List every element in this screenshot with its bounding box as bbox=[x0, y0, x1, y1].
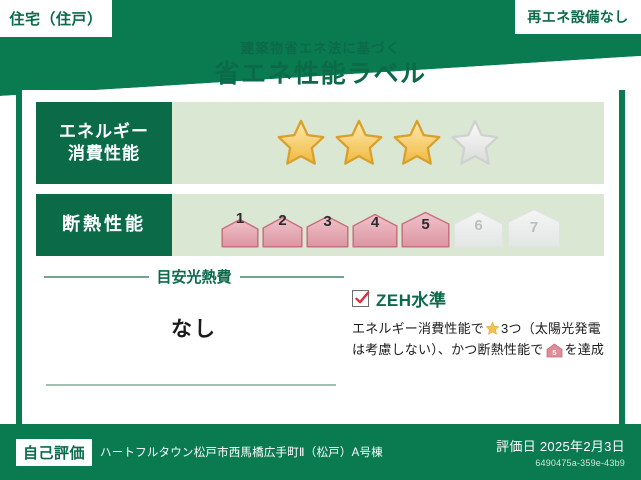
energy-label-line1: エネルギー bbox=[59, 121, 149, 143]
renewable-equipment-text: 再エネ設備なし bbox=[527, 7, 629, 27]
utility-cost-heading: 目安光熱費 bbox=[44, 266, 344, 287]
check-icon bbox=[352, 288, 372, 308]
star-empty-icon bbox=[449, 118, 501, 168]
zeh-standard-block: ZEH水準 エネルギー消費性能で3つ（太陽光発電 は考慮しない）、かつ断熱性能で… bbox=[352, 286, 620, 364]
insulation-grade-2: 2 bbox=[262, 202, 303, 248]
insulation-grade-number: 4 bbox=[352, 214, 398, 231]
evaluation-id: 6490475a-359e-43b9 bbox=[496, 458, 625, 468]
label-title: 省エネ性能ラベル bbox=[0, 59, 641, 90]
energy-performance-row: エネルギー 消費性能 bbox=[36, 102, 604, 184]
insulation-grade-5: 5 bbox=[401, 202, 450, 248]
utility-cost-block: 目安光熱費 なし bbox=[44, 266, 344, 343]
insulation-grade-number: 3 bbox=[306, 213, 349, 230]
section-vertical-separator bbox=[344, 266, 346, 394]
utility-cost-heading-text: 目安光熱費 bbox=[157, 266, 232, 287]
self-evaluation-badge: 自己評価 bbox=[16, 439, 92, 466]
insulation-grade-number: 2 bbox=[262, 212, 303, 229]
label-main-card: エネルギー 消費性能 断熱性能 1234567 目安光熱費 なし bbox=[16, 90, 625, 424]
zeh-desc-part3: は考慮しない）、かつ断熱性能で bbox=[352, 342, 544, 357]
insulation-grade-1: 1 bbox=[221, 202, 259, 248]
evaluation-meta: 評価日 2025年2月3日 6490475a-359e-43b9 bbox=[496, 436, 625, 468]
building-type-text: 住宅（住戸） bbox=[9, 8, 102, 29]
insulation-label-text: 断熱性能 bbox=[62, 213, 146, 236]
utility-cost-value: なし bbox=[44, 313, 344, 343]
insulation-grade-number: 6 bbox=[453, 217, 504, 234]
star-filled-icon bbox=[333, 118, 385, 168]
energy-label-line2: 消費性能 bbox=[68, 143, 140, 165]
insulation-grade-7: 7 bbox=[507, 202, 561, 248]
zeh-inline-grade-number: 5 bbox=[552, 348, 556, 357]
zeh-desc-part4: を達成 bbox=[565, 342, 605, 357]
zeh-heading: ZEH水準 bbox=[352, 286, 620, 311]
insulation-grade-number: 1 bbox=[221, 210, 259, 227]
energy-performance-label: 住宅（住戸） 再エネ設備なし 建築物省エネ法に基づく 省エネ性能ラベル エネルギ… bbox=[0, 0, 641, 480]
evaluation-date: 評価日 2025年2月3日 bbox=[496, 439, 625, 454]
zeh-checkbox[interactable] bbox=[352, 290, 369, 307]
insulation-performance-label-box: 断熱性能 bbox=[36, 194, 172, 256]
zeh-description: エネルギー消費性能で3つ（太陽光発電 は考慮しない）、かつ断熱性能で5を達成 bbox=[352, 318, 620, 364]
insulation-performance-row: 断熱性能 1234567 bbox=[36, 194, 604, 256]
insulation-grade-number: 5 bbox=[401, 216, 450, 233]
star-filled-icon bbox=[275, 118, 327, 168]
label-title-group: 建築物省エネ法に基づく 省エネ性能ラベル bbox=[0, 42, 641, 90]
zeh-title: ZEH水準 bbox=[376, 286, 447, 311]
heading-rule-right bbox=[240, 276, 345, 278]
label-footer: 自己評価 ハートフルタウン松戸市西馬橋広手町Ⅱ（松戸）A号棟 評価日 2025年… bbox=[0, 424, 641, 480]
insulation-grade-3: 3 bbox=[306, 202, 349, 248]
insulation-grade-scale: 1234567 bbox=[172, 194, 604, 256]
label-subtitle: 建築物省エネ法に基づく bbox=[0, 42, 641, 57]
star-filled-icon bbox=[391, 118, 443, 168]
zeh-desc-part1: エネルギー消費性能で bbox=[352, 321, 484, 336]
insulation-grade-number: 7 bbox=[507, 219, 561, 236]
renewable-equipment-tag: 再エネ設備なし bbox=[515, 0, 641, 34]
heading-rule-left bbox=[44, 276, 149, 278]
building-type-tag: 住宅（住戸） bbox=[0, 0, 112, 37]
utility-cost-bottom-rule bbox=[46, 384, 336, 386]
zeh-inline-grade-badge: 5 bbox=[546, 346, 563, 361]
insulation-grade-4: 4 bbox=[352, 202, 398, 248]
property-name: ハートフルタウン松戸市西馬橋広手町Ⅱ（松戸）A号棟 bbox=[100, 444, 383, 460]
zeh-desc-part2: 3つ（太陽光発電 bbox=[501, 321, 601, 336]
energy-performance-label-box: エネルギー 消費性能 bbox=[36, 102, 172, 184]
star-icon bbox=[485, 321, 500, 336]
insulation-grade-6: 6 bbox=[453, 202, 504, 248]
house-badge-icon: 5 bbox=[546, 343, 563, 358]
energy-star-rating bbox=[172, 102, 604, 184]
